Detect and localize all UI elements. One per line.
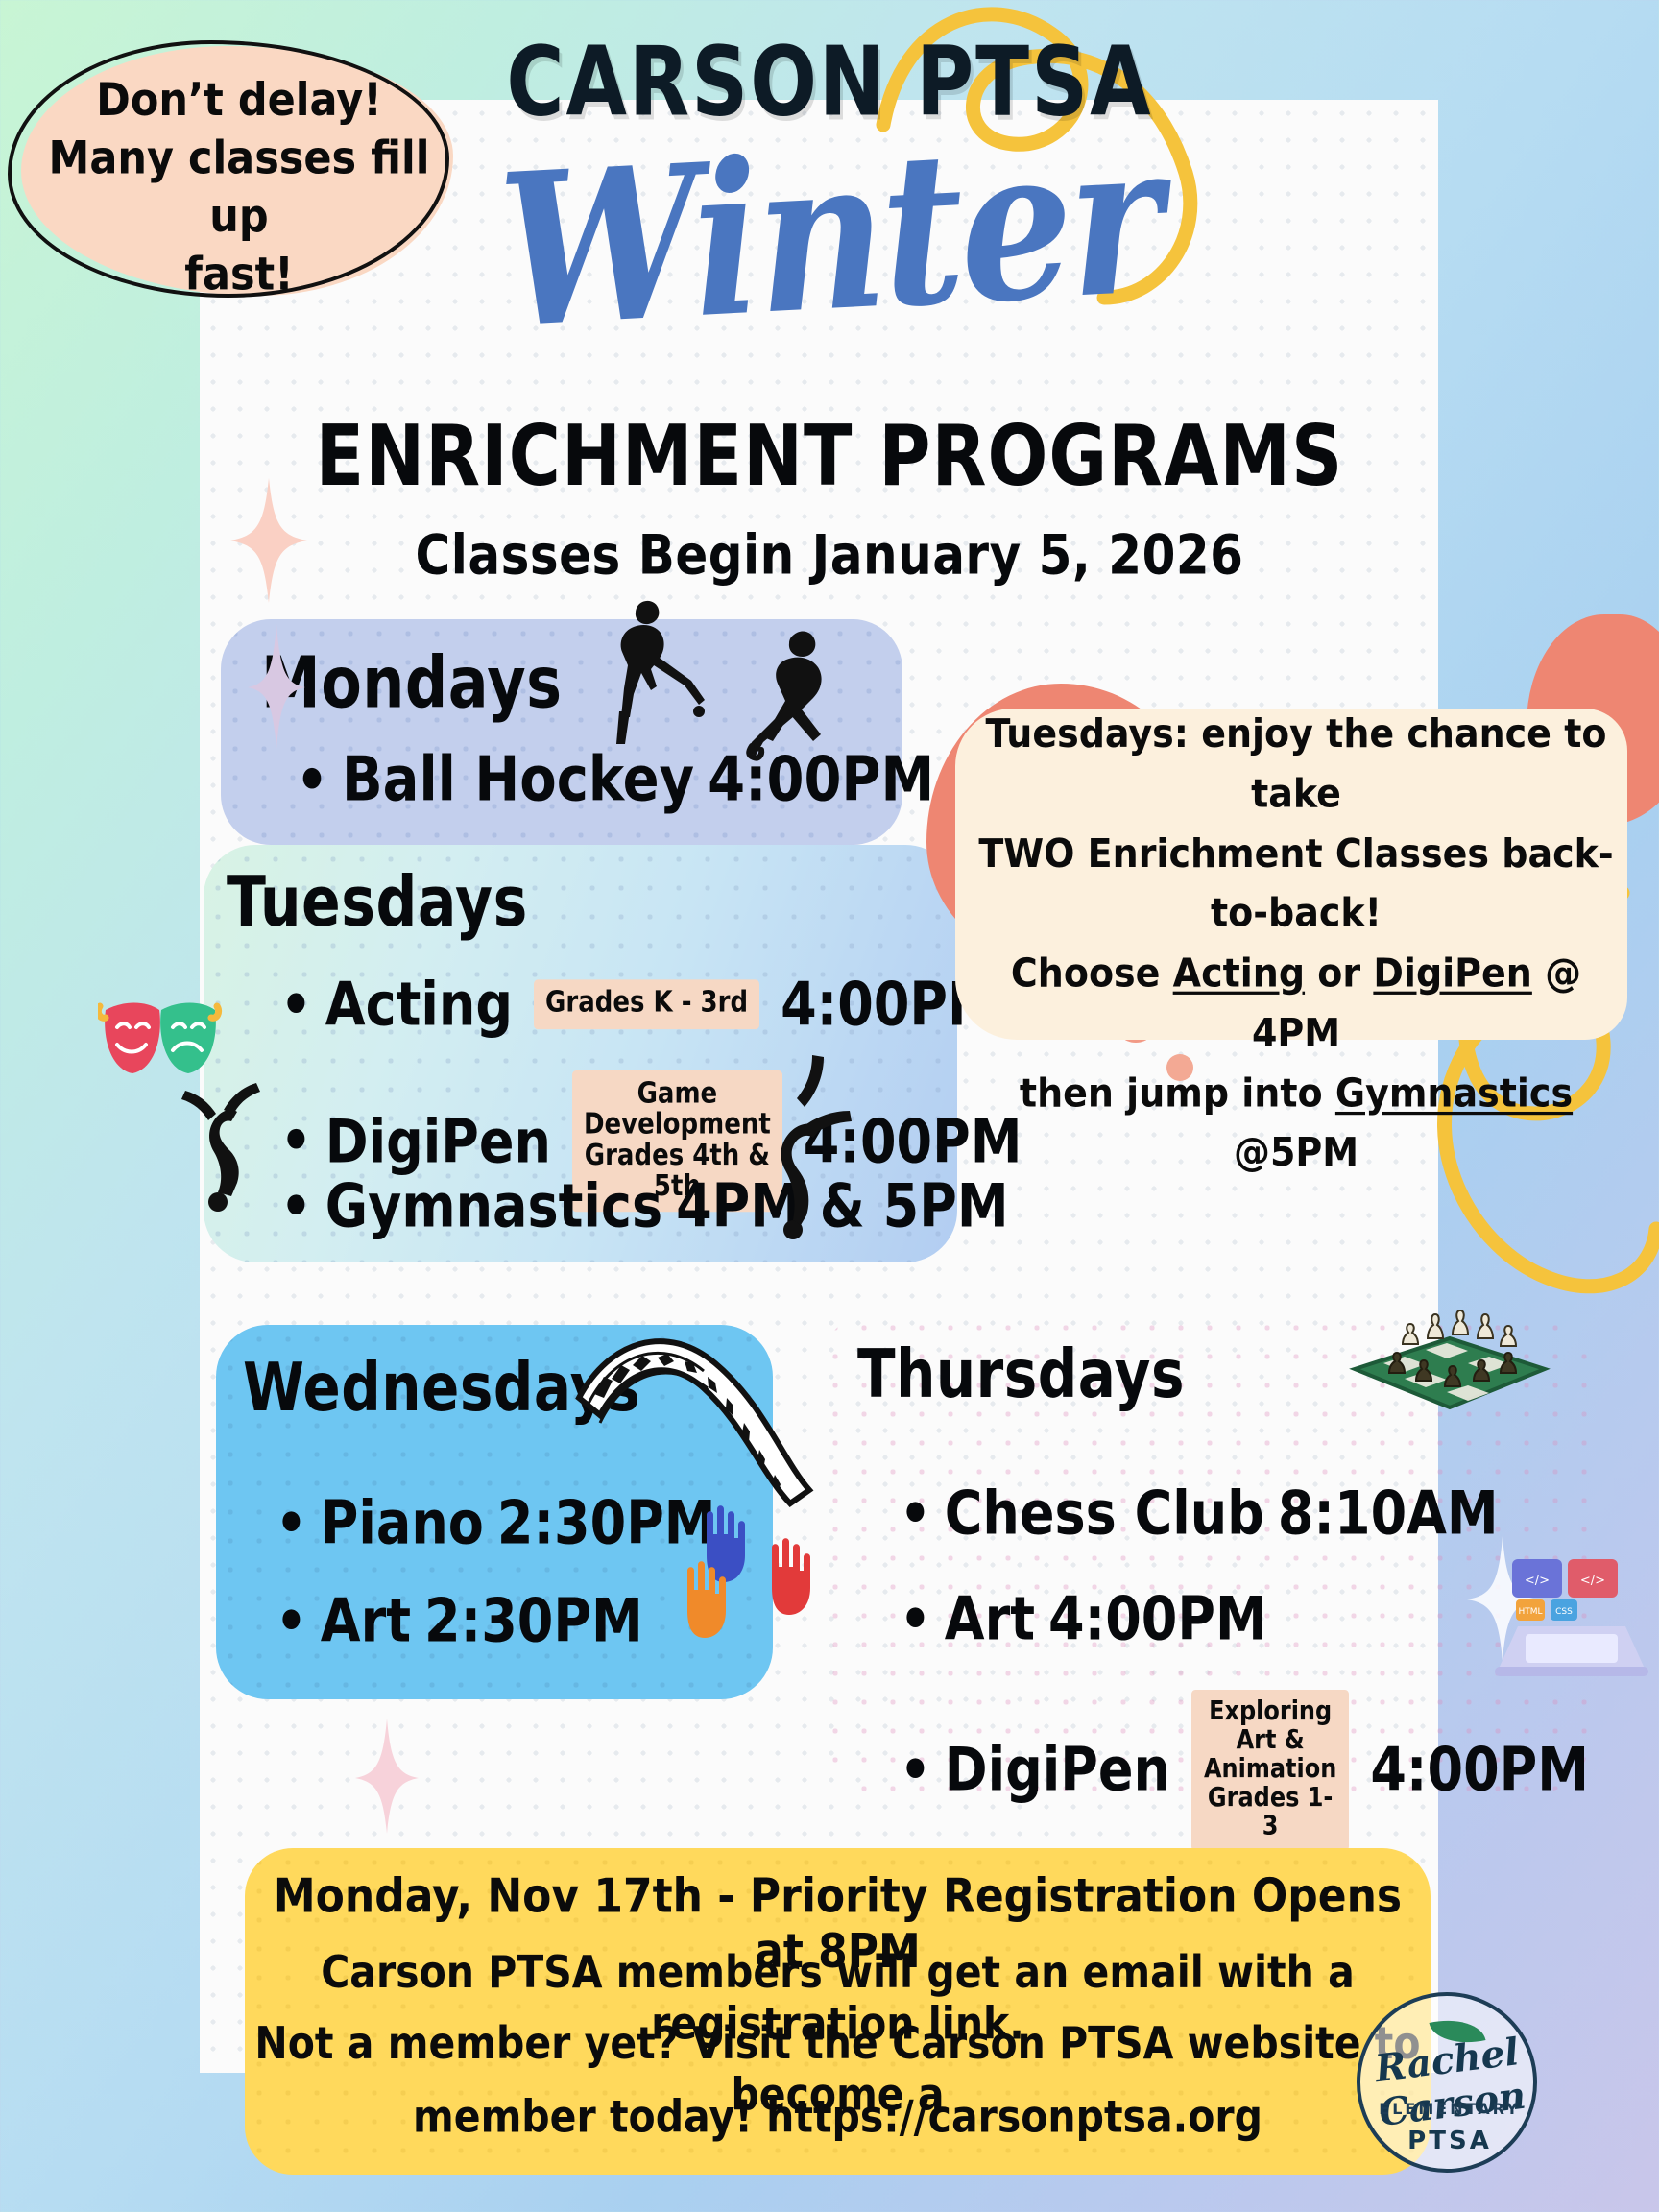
class-row-digipen-thu: • DigiPen Exploring Art & Animation Grad… [900,1690,1589,1850]
field-hockey-player-icon [576,590,710,763]
chess-board-icon [1339,1256,1560,1424]
tuesday-note-text: Tuesdays: enjoy the chance to take TWO E… [965,705,1627,1184]
note-line3-prefix: Choose [1011,950,1173,996]
svg-text:HTML: HTML [1518,1607,1542,1617]
class-time: 8:10AM [1278,1479,1499,1548]
note-line-3: Choose Acting or DigiPen @ 4PM [965,944,1627,1064]
field-hockey-player-2-icon [744,610,917,782]
day-title-tuesday: Tuesdays [227,862,528,943]
note-line3-or: or [1305,950,1373,996]
logo-org: PTSA [1339,2127,1560,2155]
day-title-monday: Mondays [261,640,563,725]
class-row-art-wed: • Art 2:30PM [276,1586,643,1655]
callout-line-2: Many classes fill up [33,131,445,247]
class-name: DigiPen [325,1107,551,1176]
note-line-2: TWO Enrichment Classes back-to-back! [965,824,1627,944]
note-line4-prefix: then jump into [1020,1070,1335,1116]
day-card-monday: Mondays • Ball Hockey 4:00PM [221,619,902,845]
svg-text:</>: </> [1525,1574,1550,1588]
callout-line-3: fast! [33,247,445,305]
class-name: Art [321,1586,411,1655]
sparkle-pink-lower-icon [355,1719,419,1834]
class-grade-label: Grades K - 3rd [534,980,759,1029]
registration-box: Monday, Nov 17th - Priority Registration… [245,1848,1431,2175]
class-row-acting: • Acting Grades K - 3rd 4:00PM [280,970,999,1039]
day-title-thursday: Thursdays [857,1334,1185,1413]
class-row-art-thu: • Art 4:00PM [900,1584,1267,1653]
class-name: DigiPen [945,1735,1170,1804]
registration-line-4[interactable]: member today! https://carsonptsa.org [245,2091,1431,2143]
note-line-4: then jump into Gymnastics @5PM [965,1064,1627,1184]
class-row-chess-club: • Chess Club 8:10AM [900,1479,1499,1548]
note-line-1: Tuesdays: enjoy the chance to take [965,705,1627,825]
day-card-tuesday: Tuesdays • Acting Grades K - 3rd 4:00PM … [204,845,957,1262]
note-class-acting: Acting [1173,950,1305,996]
note-class-gymnastics: Gymnastics [1335,1070,1573,1116]
callout-text: Don’t delay! Many classes fill up fast! [33,72,445,304]
note-class-digipen: DigiPen [1373,950,1531,996]
class-name: Gymnastics [325,1171,662,1240]
laptop-code-icon: </> </> HTML CSS [1483,1546,1656,1690]
class-name: Art [945,1584,1035,1653]
class-time: 2:30PM [424,1586,643,1655]
school-logo: Rachel Carson ELEMENTARY PTSA [1339,1992,1560,2175]
svg-text:CSS: CSS [1555,1607,1573,1617]
note-line4-time: @5PM [1234,1130,1358,1176]
class-name: Piano [321,1488,484,1557]
start-date-text: Classes Begin January 5, 2026 [0,523,1659,587]
svg-text:</>: </> [1580,1574,1605,1588]
class-row-gymnastics: • Gymnastics 4PM & 5PM [280,1171,1009,1240]
piano-keys-icon [562,1315,821,1507]
callout-dont-delay: Don’t delay! Many classes fill up fast! [4,36,465,305]
class-grade-label: Exploring Art & Animation Grades 1-3 [1191,1690,1349,1850]
class-name: Acting [325,970,513,1039]
program-title: ENRICHMENT PROGRAMS [0,408,1659,505]
sparkle-lavender-icon [248,624,305,749]
class-name: Chess Club [945,1479,1264,1548]
gymnast-cartwheel-icon [712,1051,866,1243]
class-time: 4:00PM [1048,1584,1267,1653]
gymnast-handstand-icon [170,1075,271,1229]
class-time: 4:00PM [1370,1735,1589,1804]
handprints-icon [672,1498,864,1651]
callout-line-1: Don’t delay! [33,72,445,131]
logo-level: ELEMENTARY [1339,2100,1560,2118]
